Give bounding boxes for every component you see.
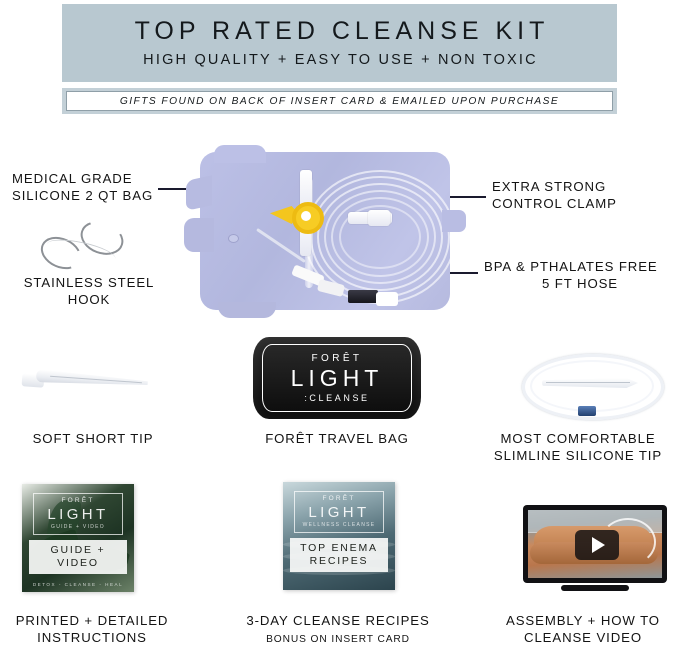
page-title: TOP RATED CLEANSE KIT — [130, 19, 550, 44]
callout-medical-grade-line2: SILICONE 2 QT BAG — [12, 187, 172, 204]
blue-connector — [578, 406, 596, 416]
guide-footer: DETOX - CLEANSE - HEAL — [29, 582, 127, 587]
label-hook-line1: STAINLESS STEEL — [0, 274, 178, 291]
label-assembly-video: ASSEMBLY + HOW TO CLEANSE VIDEO — [487, 612, 679, 646]
tip-shaft — [256, 228, 306, 263]
label-slimline-silicone-tip: MOST COMFORTABLE SLIMLINE SILICONE TIP — [478, 430, 678, 464]
black-connector — [348, 290, 378, 303]
recipes-banner: TOP ENEMA RECIPES — [290, 538, 388, 572]
clamp-ring — [292, 202, 324, 234]
label-recipes-bonus: BONUS ON INSERT CARD — [243, 631, 433, 648]
guide-banner-line1: GUIDE + VIDEO — [29, 544, 127, 570]
travel-bag-brand: FORÊT — [312, 354, 363, 364]
recipes-brand: FORÊT — [322, 496, 355, 503]
label-video-line1: ASSEMBLY + HOW TO — [487, 612, 679, 629]
callout-control-clamp-line2: CONTROL CLAMP — [492, 195, 672, 212]
recipes-booklet-image: FORÊT LIGHT WELLNESS CLEANSE TOP ENEMA R… — [283, 482, 395, 590]
video-tv-image — [523, 505, 667, 591]
label-instructions-line1: PRINTED + DETAILED — [0, 612, 184, 629]
travel-bag-image: FORÊT LIGHT :CLEANSE — [253, 337, 421, 419]
recipes-cover-header: FORÊT LIGHT WELLNESS CLEANSE — [294, 491, 384, 533]
recipes-banner-line2: RECIPES — [290, 555, 388, 568]
callout-medical-grade-line1: MEDICAL GRADE — [12, 170, 172, 187]
label-slimline-line1: MOST COMFORTABLE — [478, 430, 678, 447]
guide-tagline: GUIDE + VIDEO — [51, 525, 105, 530]
play-triangle-icon — [592, 537, 605, 553]
label-recipes-line1: 3-DAY CLEANSE RECIPES — [243, 612, 433, 629]
gifts-band: GIFTS FOUND ON BACK OF INSERT CARD & EMA… — [62, 88, 617, 114]
tv-screen — [528, 510, 662, 578]
recipes-banner-line1: TOP ENEMA — [290, 542, 388, 555]
recipes-tagline: WELLNESS CLEANSE — [303, 523, 376, 528]
hose-coupler-cap — [368, 210, 390, 226]
recipes-title: LIGHT — [308, 505, 369, 520]
hero-product-image — [180, 148, 465, 313]
slimline-tip-seam — [546, 382, 630, 383]
label-hook-line2: HOOK — [0, 291, 178, 308]
bag-bottom-notch — [218, 302, 276, 318]
callout-control-clamp: EXTRA STRONG CONTROL CLAMP — [492, 178, 672, 212]
gifts-note: GIFTS FOUND ON BACK OF INSERT CARD & EMA… — [120, 96, 559, 107]
label-travel-bag-line1: FORÊT TRAVEL BAG — [243, 430, 431, 447]
label-stainless-steel-hook: STAINLESS STEEL HOOK — [0, 274, 178, 308]
label-travel-bag: FORÊT TRAVEL BAG — [243, 430, 431, 447]
silicone-bag — [200, 152, 450, 310]
page-subtitle: HIGH QUALITY + EASY TO USE + NON TOXIC — [141, 53, 538, 68]
stainless-steel-hook-icon — [38, 222, 128, 264]
label-instructions-line2: INSTRUCTIONS — [0, 629, 184, 646]
callout-hose: BPA & PTHALATES FREE 5 FT HOSE — [484, 258, 676, 292]
bag-top-notch — [214, 145, 266, 163]
bag-hang-hole — [228, 234, 239, 243]
label-video-line2: CLEANSE VIDEO — [487, 629, 679, 646]
gifts-inner: GIFTS FOUND ON BACK OF INSERT CARD & EMA… — [66, 91, 613, 111]
slimline-silicone-tip-image — [516, 352, 666, 418]
travel-bag-title: LIGHT — [291, 367, 384, 390]
callout-hose-line1: BPA & PTHALATES FREE — [484, 258, 676, 275]
white-end-cap — [376, 292, 398, 306]
play-button-icon[interactable] — [575, 530, 619, 560]
label-cleanse-recipes: 3-DAY CLEANSE RECIPES BONUS ON INSERT CA… — [243, 612, 433, 648]
callout-hose-line2: 5 FT HOSE — [484, 275, 676, 292]
control-clamp — [270, 200, 318, 230]
tv-stand — [561, 585, 629, 591]
label-soft-short-tip: SOFT SHORT TIP — [0, 430, 186, 447]
label-slimline-line2: SLIMLINE SILICONE TIP — [478, 447, 678, 464]
guide-cover-header: FORÊT LIGHT GUIDE + VIDEO — [33, 493, 123, 535]
bag-side-tab — [442, 210, 466, 232]
label-soft-short-tip-line1: SOFT SHORT TIP — [0, 430, 186, 447]
travel-bag-frame: FORÊT LIGHT :CLEANSE — [262, 344, 412, 412]
guide-brand: FORÊT — [61, 498, 94, 505]
guide-booklet-image: FORÊT LIGHT GUIDE + VIDEO GUIDE + VIDEO … — [22, 484, 134, 592]
guide-title: LIGHT — [47, 507, 108, 522]
soft-short-tip-image — [16, 368, 158, 394]
label-printed-instructions: PRINTED + DETAILED INSTRUCTIONS — [0, 612, 184, 646]
travel-bag-sub: :CLEANSE — [304, 394, 369, 403]
tv-bezel — [523, 505, 667, 583]
guide-banner: GUIDE + VIDEO — [29, 540, 127, 574]
header-band: TOP RATED CLEANSE KIT HIGH QUALITY + EAS… — [62, 4, 617, 82]
callout-medical-grade: MEDICAL GRADE SILICONE 2 QT BAG — [12, 170, 172, 204]
callout-control-clamp-line1: EXTRA STRONG — [492, 178, 672, 195]
